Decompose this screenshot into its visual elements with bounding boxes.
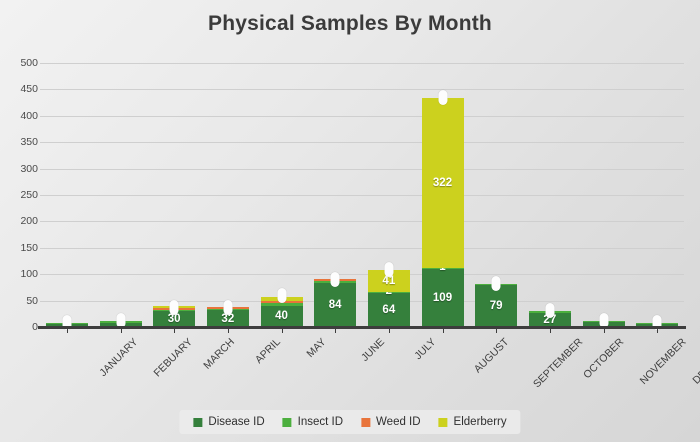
legend-label: Weed ID <box>376 416 421 428</box>
gridline <box>40 142 684 143</box>
y-tick-label: 200 <box>4 215 38 227</box>
x-tick <box>121 327 122 333</box>
y-tick-label: 0 <box>4 321 38 333</box>
bar-segment[interactable]: 79 <box>475 285 517 327</box>
legend-item[interactable]: Insect ID <box>283 416 343 428</box>
bar-cap-marker <box>492 276 501 291</box>
bar-segment[interactable]: 84 <box>314 283 356 327</box>
x-tick <box>604 327 605 333</box>
bar-cap-marker <box>384 262 393 277</box>
bar-group[interactable]: 32 <box>207 307 249 327</box>
legend-item[interactable]: Disease ID <box>193 416 264 428</box>
y-tick-label: 400 <box>4 110 38 122</box>
plot-area: 303240846424110913227927 <box>40 63 684 327</box>
gridline <box>40 248 684 249</box>
gridline <box>40 116 684 117</box>
bar-value-label: 30 <box>153 313 195 325</box>
gridline <box>40 221 684 222</box>
chart-legend: Disease IDInsect IDWeed IDElderberry <box>179 410 520 434</box>
chart-title: Physical Samples By Month <box>0 12 700 36</box>
bar-cap-marker <box>438 90 447 105</box>
gridline <box>40 195 684 196</box>
bar-value-label: 64 <box>368 304 410 316</box>
x-axis-label: MARCH <box>201 336 237 372</box>
gridline <box>40 274 684 275</box>
x-axis-label: AUGUST <box>471 336 510 375</box>
legend-swatch-icon <box>361 418 370 427</box>
x-tick <box>67 327 68 333</box>
bar-segment[interactable]: 2 <box>368 292 410 294</box>
bar-segment[interactable]: 109 <box>422 269 464 327</box>
bar-segment[interactable]: 1 <box>422 268 464 270</box>
bar-value-label: 79 <box>475 300 517 312</box>
legend-swatch-icon <box>193 418 202 427</box>
gridline <box>40 63 684 64</box>
legend-swatch-icon <box>439 418 448 427</box>
gridline <box>40 89 684 90</box>
bar-cap-marker <box>223 300 232 315</box>
y-axis: 500450400350300250200150100500 <box>0 0 38 442</box>
legend-label: Elderberry <box>454 416 507 428</box>
bar-group[interactable]: 64241 <box>368 270 410 327</box>
x-axis-label: NOVEMBER <box>637 336 688 387</box>
legend-item[interactable]: Elderberry <box>439 416 507 428</box>
bar-value-label: 40 <box>261 310 303 322</box>
x-axis-label: DECEMBER <box>691 336 700 387</box>
bar-cap-marker <box>545 303 554 318</box>
bar-cap-marker <box>170 300 179 315</box>
legend-label: Disease ID <box>208 416 264 428</box>
bar-group[interactable]: 27 <box>529 311 571 327</box>
y-tick-label: 450 <box>4 83 38 95</box>
gridline <box>40 301 684 302</box>
bar-value-label: 109 <box>422 292 464 304</box>
x-axis-label: JULY <box>412 336 438 362</box>
x-axis-label: JANUARY <box>97 336 140 379</box>
x-tick <box>282 327 283 333</box>
x-tick <box>389 327 390 333</box>
gridline <box>40 169 684 170</box>
x-tick <box>657 327 658 333</box>
legend-swatch-icon <box>283 418 292 427</box>
chart-container: Physical Samples By Month 50045040035030… <box>0 0 700 442</box>
bar-value-label: 322 <box>422 177 464 189</box>
bar-segment[interactable]: 40 <box>261 306 303 327</box>
bar-group[interactable]: 30 <box>153 306 195 327</box>
bar-group[interactable]: 84 <box>314 279 356 327</box>
x-tick <box>496 327 497 333</box>
x-axis-label: JUNE <box>359 336 387 364</box>
y-tick-label: 300 <box>4 163 38 175</box>
y-tick-label: 50 <box>4 295 38 307</box>
y-tick-label: 150 <box>4 242 38 254</box>
legend-item[interactable]: Weed ID <box>361 416 421 428</box>
x-tick <box>174 327 175 333</box>
bar-segment[interactable]: 64 <box>368 293 410 327</box>
bar-value-label: 41 <box>368 275 410 287</box>
bar-value-label: 84 <box>314 299 356 311</box>
y-tick-label: 500 <box>4 57 38 69</box>
bar-segment[interactable]: 322 <box>422 98 464 268</box>
x-tick <box>550 327 551 333</box>
y-tick-label: 350 <box>4 136 38 148</box>
x-axis-line <box>38 326 686 329</box>
bar-group[interactable]: 79 <box>475 284 517 327</box>
bar-cap-marker <box>331 272 340 287</box>
legend-label: Insect ID <box>298 416 343 428</box>
x-axis-label: APRIL <box>253 336 283 366</box>
x-axis-label: FEBUARY <box>151 336 194 379</box>
x-tick <box>228 327 229 333</box>
x-tick <box>335 327 336 333</box>
x-axis-label: MAY <box>304 336 328 360</box>
x-axis-label: OCTOBER <box>581 336 626 381</box>
bar-group[interactable]: 1091322 <box>422 98 464 327</box>
x-axis-label: SEPTEMBER <box>531 336 585 390</box>
bar-cap-marker <box>277 288 286 303</box>
y-tick-label: 250 <box>4 189 38 201</box>
y-tick-label: 100 <box>4 268 38 280</box>
x-tick <box>443 327 444 333</box>
bar-group[interactable]: 40 <box>261 297 303 327</box>
